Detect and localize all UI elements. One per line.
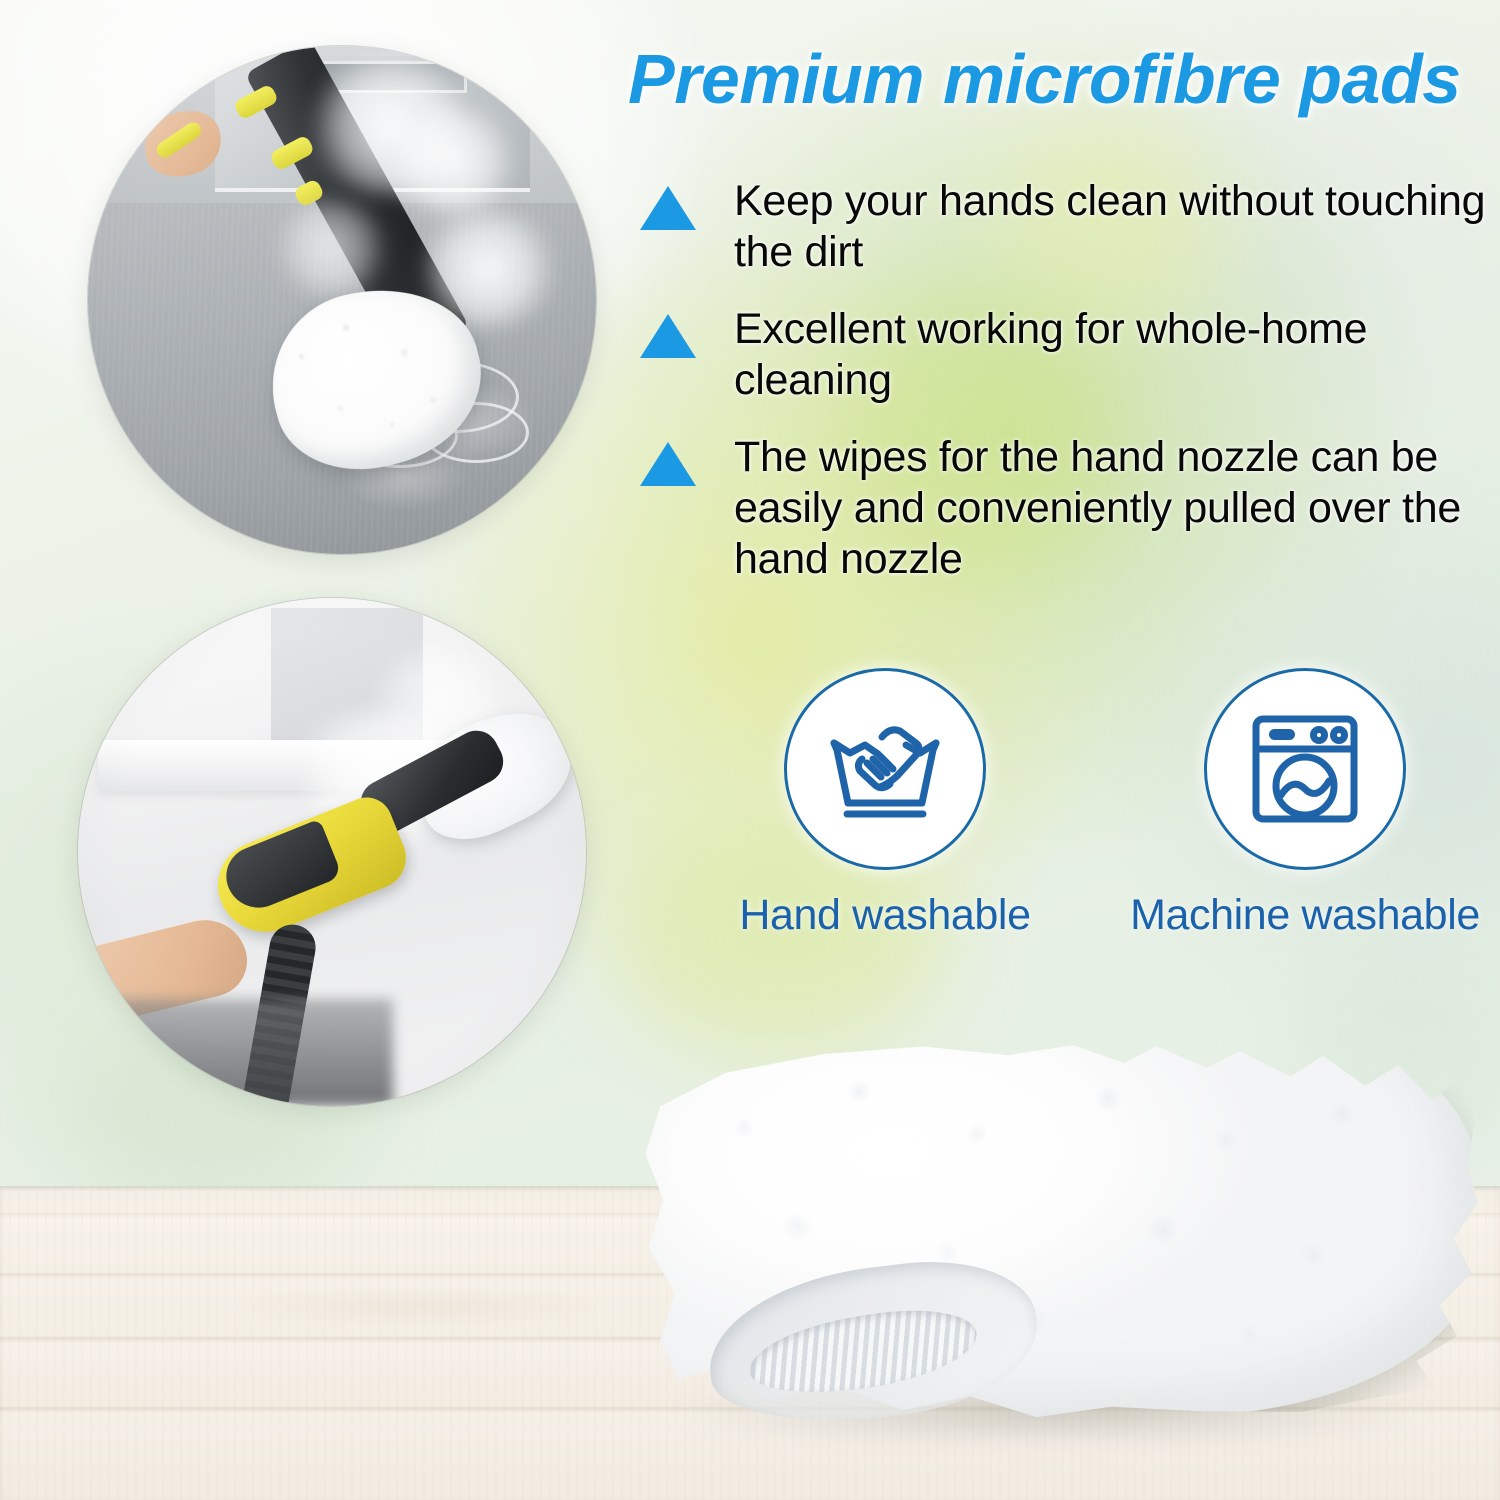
feature-list: Keep your hands clean without touching t… [640,176,1500,611]
care-badge-machine-washable: Machine washable [1120,668,1490,940]
triangle-up-icon [640,442,696,486]
care-badge-label: Machine washable [1120,890,1490,940]
steam-cloud-4 [271,198,391,298]
microfibre-pad-product-photo [648,1030,1498,1450]
hand-wash-basin-icon [820,709,950,829]
feature-item: Keep your hands clean without touching t… [640,176,1500,278]
hand-wash-icon-circle [784,668,986,870]
dark-floor-area [78,999,393,1106]
product-infographic: Premium microfibre pads [0,0,1500,1500]
photo-scene-worktop [88,46,596,554]
feature-item: The wipes for the hand nozzle can be eas… [640,432,1500,585]
steam-cleaner-worktop-photo [88,46,596,554]
machine-wash-icon-circle [1204,668,1406,870]
feature-text: Excellent working for whole-home cleanin… [734,304,1500,406]
page-title: Premium microfibre pads [628,36,1496,122]
care-badge-hand-washable: Hand washable [700,668,1070,940]
care-badge-label: Hand washable [700,890,1070,940]
photo-scene-steam-gun [78,598,586,1106]
feature-text: Keep your hands clean without touching t… [734,176,1500,278]
feature-text: The wipes for the hand nozzle can be eas… [734,432,1500,585]
triangle-up-icon [640,314,696,358]
handheld-steam-gun-photo [78,598,586,1106]
care-badge-row: Hand washable Machine washable [700,668,1490,940]
feature-item: Excellent working for whole-home cleanin… [640,304,1500,406]
steam-cloud-2 [383,107,523,217]
steam-cloud-3 [413,209,563,329]
triangle-up-icon [640,186,696,230]
washing-machine-icon [1243,707,1367,831]
